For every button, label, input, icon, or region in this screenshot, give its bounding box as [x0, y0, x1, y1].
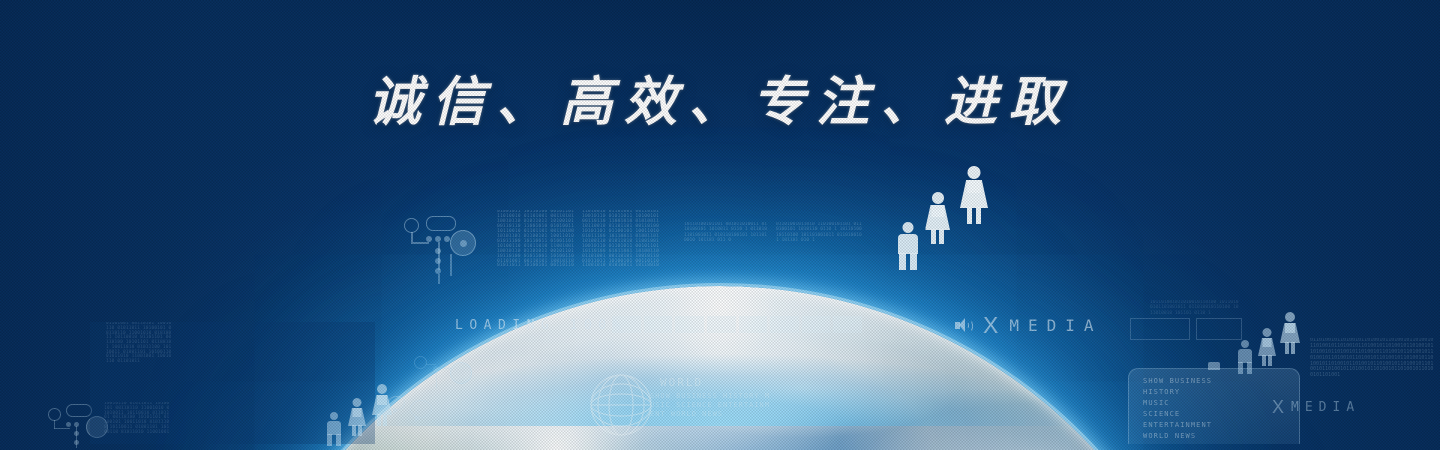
person-female-icon [925, 192, 950, 244]
person-female-icon [348, 398, 366, 436]
person-skirt [925, 205, 950, 230]
xmedia-logo-bottom: X MEDIA [1272, 398, 1360, 416]
person-leg [352, 425, 356, 436]
person-leg [1262, 355, 1266, 366]
person-leg [1268, 355, 1272, 366]
person-female-icon [960, 166, 988, 224]
world-label: WORLD [660, 376, 703, 389]
xmedia-logo-top: X MEDIA [955, 314, 1103, 337]
person-leg [967, 207, 972, 224]
loading-bar-segment [802, 316, 831, 333]
hud-rect [1130, 318, 1190, 340]
person-leg [910, 253, 917, 270]
loading-progress-bar [612, 316, 862, 333]
person-leg [1285, 342, 1289, 354]
xmedia-x-mark: X [1272, 398, 1284, 416]
person-leg [1291, 342, 1295, 354]
node-link [54, 428, 70, 429]
node-ring [404, 218, 419, 233]
person-skirt [1258, 338, 1276, 356]
node-link [438, 274, 440, 284]
person-leg [358, 425, 362, 436]
person-head [1241, 340, 1249, 348]
loading-bar-segment [707, 316, 736, 333]
panel-tab-handle[interactable] [1208, 362, 1220, 370]
node-pill [426, 216, 456, 231]
person-skirt [348, 408, 366, 426]
person-leg [931, 229, 936, 244]
person-head [1285, 312, 1295, 322]
loading-bar-segment [644, 316, 673, 333]
node-link [76, 426, 77, 448]
person-head [330, 412, 338, 420]
person-leg [336, 434, 341, 446]
chat-bubble-icon [410, 400, 432, 418]
xmedia-wordmark: MEDIA [1009, 316, 1102, 335]
xmedia-wordmark: MEDIA [1291, 400, 1360, 415]
person-female-icon [1280, 312, 1300, 354]
node-link [450, 254, 452, 276]
person-skirt [960, 180, 988, 208]
node-link [411, 232, 413, 242]
person-leg [327, 434, 332, 446]
xmedia-x-mark: X [983, 314, 998, 337]
wireframe-globe-icon [588, 372, 654, 438]
node-dot [460, 240, 467, 247]
node-ring [414, 356, 427, 369]
person-leg [939, 229, 944, 244]
hero-banner: 01001011 10110100 00101101 11010010 0110… [0, 0, 1440, 450]
person-torso [1238, 349, 1252, 363]
speaker-wave [967, 320, 973, 332]
node-pill [66, 404, 92, 417]
node-link [411, 242, 429, 244]
person-head [353, 398, 362, 407]
speaker-icon [955, 318, 972, 333]
loading-bar-segment [675, 316, 704, 333]
list-item[interactable]: SHOW BUSINESS [1143, 376, 1299, 387]
world-sublabel: SHOW BUSINESS HISTORY MUSIC SCIENCE ENTE… [650, 392, 770, 419]
node-dot [66, 422, 71, 427]
node-link [426, 364, 436, 365]
network-node-diagram [404, 208, 478, 286]
loading-bar-segment [833, 316, 862, 333]
person-torso [898, 234, 918, 254]
person-head [932, 192, 944, 204]
person-male-icon [326, 412, 342, 446]
loading-label: LOADING 100% [455, 318, 627, 333]
person-female-icon [372, 384, 392, 426]
person-head [903, 222, 914, 233]
person-torso [327, 421, 341, 435]
page-title: 诚信、高效、专注、进取 [0, 60, 1440, 136]
person-leg [377, 414, 381, 426]
list-item[interactable]: WORLD NEWS [1143, 431, 1299, 442]
node-link [438, 242, 440, 270]
person-female-icon [1258, 328, 1276, 366]
person-leg [976, 207, 981, 224]
person-head [377, 384, 387, 394]
list-item[interactable]: ENTERTAINMENT [1143, 420, 1299, 431]
person-head [1263, 328, 1272, 337]
loading-bar-segment [612, 316, 641, 333]
person-leg [899, 253, 906, 270]
person-male-icon [897, 222, 919, 270]
person-head [968, 166, 981, 179]
person-skirt [372, 395, 392, 415]
person-skirt [1280, 323, 1300, 343]
node-dot [444, 236, 450, 242]
loading-bar-segment [770, 316, 799, 333]
person-leg [383, 414, 387, 426]
hud-rect [1196, 318, 1242, 340]
loading-bar-segment [739, 316, 768, 333]
